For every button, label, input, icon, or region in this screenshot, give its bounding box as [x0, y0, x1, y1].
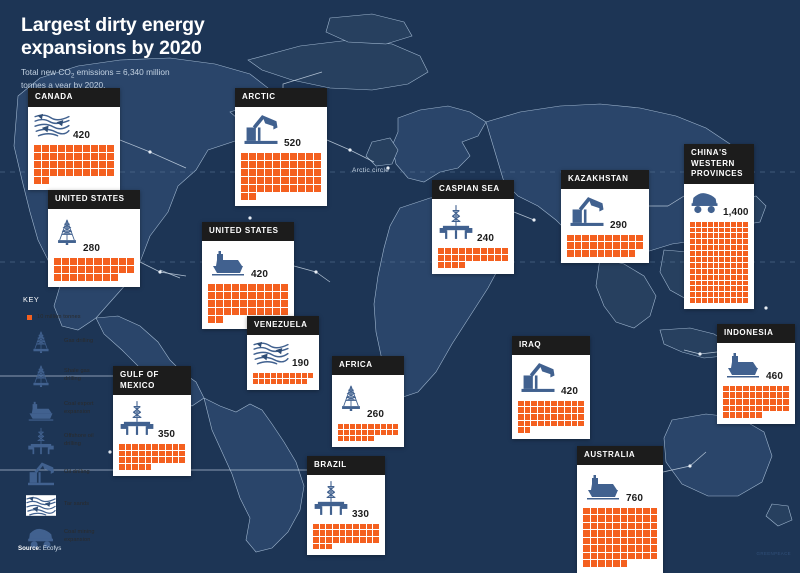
unit-dot [590, 242, 597, 249]
unit-dot [731, 263, 736, 268]
region-card-title: BRAZIL [307, 456, 385, 475]
unit-dot [146, 464, 152, 470]
unit-dot [770, 392, 776, 398]
region-card-body: 280 [48, 209, 140, 287]
unit-dot [253, 373, 258, 378]
unit-dot [302, 379, 307, 384]
gas-drilling-icon [338, 380, 364, 421]
unit-dot [257, 308, 264, 315]
unit-dot [690, 222, 695, 227]
unit-swatch-icon [27, 315, 32, 320]
region-card-africa[interactable]: AFRICA260 [332, 356, 404, 447]
region-card-caspian-sea[interactable]: CASPIAN SEA240 [432, 180, 514, 274]
unit-dot [74, 145, 81, 152]
region-card-value: 520 [284, 139, 301, 150]
region-card-value: 420 [251, 270, 268, 281]
unit-dot [731, 275, 736, 280]
unit-dot [119, 258, 126, 265]
unit-dot [119, 451, 125, 457]
unit-dot [750, 386, 756, 392]
unit-dot [338, 424, 343, 429]
unit-dot [583, 538, 590, 545]
unit-dot [651, 515, 658, 522]
unit-dot [320, 544, 326, 550]
unit-dot [257, 161, 264, 168]
unit-dot [606, 515, 613, 522]
unit-dot [696, 251, 701, 256]
unit-dot [346, 524, 352, 530]
unit-dot [107, 153, 114, 160]
unit-dot [438, 262, 444, 268]
unit-dot [628, 530, 635, 537]
unit-dot [249, 193, 256, 200]
icon-value-row: 420 [208, 246, 289, 281]
unit-dot [730, 406, 736, 412]
unit-dot [636, 545, 643, 552]
oil-pumpjack-icon [518, 360, 558, 398]
unit-dot [708, 233, 713, 238]
unit-dot [373, 537, 379, 543]
unit-dot [708, 281, 713, 286]
unit-dot [298, 169, 305, 176]
offshore-oil-platform-icon [119, 400, 155, 441]
unit-dot [777, 386, 783, 392]
unit-dot [777, 406, 783, 412]
unit-dot [466, 248, 472, 254]
unit-dot [606, 538, 613, 545]
unit-dot [296, 373, 301, 378]
unit-dot [70, 258, 77, 265]
unit-dot [545, 401, 551, 407]
unit-dot [333, 524, 339, 530]
region-card-iraq[interactable]: IRAQ420 [512, 336, 590, 439]
unit-dot [290, 169, 297, 176]
unit-dot [606, 545, 613, 552]
unit-dot [350, 424, 355, 429]
unit-dot [232, 292, 239, 299]
unit-dot [690, 245, 695, 250]
unit-dot [737, 228, 742, 233]
unit-dot [232, 300, 239, 307]
unit-dot [714, 233, 719, 238]
unit-dot [518, 421, 524, 427]
unit-dot [551, 414, 557, 420]
unit-dot [591, 508, 598, 515]
unit-dot [306, 185, 313, 192]
unit-dot [613, 553, 620, 560]
key-legend: KEY 10 million tonnes Gas drillingShale … [17, 292, 107, 562]
icon-value-row: 460 [723, 348, 790, 383]
region-card-united-states-coal[interactable]: UNITED STATES420 [202, 222, 294, 329]
region-card-title: GULF OF MEXICO [113, 366, 191, 395]
unit-dot [719, 251, 724, 256]
unit-dot [551, 401, 557, 407]
unit-dot [83, 145, 90, 152]
unit-dot [621, 530, 628, 537]
unit-dot [708, 245, 713, 250]
unit-dot [34, 169, 41, 176]
unit-dot [353, 524, 359, 530]
unit-dot [452, 248, 458, 254]
unit-dot [367, 537, 373, 543]
region-card-value: 350 [158, 430, 175, 441]
unit-dot [770, 386, 776, 392]
unit-dot [173, 457, 179, 463]
unit-dot [628, 523, 635, 530]
unit-dot [763, 386, 769, 392]
unit-dot [353, 537, 359, 543]
unit-dot [605, 242, 612, 249]
unit-dot [572, 407, 578, 413]
region-card-kazakhstan[interactable]: KAZAKHSTAN290 [561, 170, 649, 263]
unit-dot [545, 407, 551, 413]
unit-dot [696, 239, 701, 244]
unit-dot [696, 275, 701, 280]
unit-dot [690, 228, 695, 233]
unit-dot [538, 421, 544, 427]
unit-dot [702, 275, 707, 280]
key-item-label: Offshore oil drilling [64, 433, 101, 448]
unit-dot [66, 145, 73, 152]
unit-dot-grid [723, 386, 790, 419]
unit-dot [271, 379, 276, 384]
unit-dot [525, 427, 531, 433]
unit-dot [240, 292, 247, 299]
key-item-label: Tar sands [64, 501, 89, 509]
region-card-gulf-of-mexico[interactable]: GULF OF MEXICO350 [113, 366, 191, 476]
unit-dot [132, 451, 138, 457]
unit-dot [598, 560, 605, 567]
unit-dot [690, 286, 695, 291]
unit-dot [598, 235, 605, 242]
unit-dot [127, 266, 134, 273]
unit-dot [452, 255, 458, 261]
unit-dot [179, 457, 185, 463]
unit-dot [139, 457, 145, 463]
unit-dot [34, 161, 41, 168]
unit-dot [783, 399, 789, 405]
unit-dot [551, 421, 557, 427]
unit-dot [525, 401, 531, 407]
unit-dot [591, 530, 598, 537]
unit-dot [344, 424, 349, 429]
unit-dot [737, 257, 742, 262]
unit-dot [702, 239, 707, 244]
unit-dot [249, 161, 256, 168]
unit-dot [240, 308, 247, 315]
unit-dot [567, 242, 574, 249]
unit-dot [696, 228, 701, 233]
unit-dot [216, 308, 223, 315]
unit-dot [743, 222, 748, 227]
unit-dot [208, 300, 215, 307]
unit-dot [567, 250, 574, 257]
unit-dot [224, 284, 231, 291]
key-item-coal-export-ship: Coal export expansion [24, 395, 101, 423]
unit-dot [643, 508, 650, 515]
region-card-value: 420 [561, 387, 578, 398]
unit-dot [119, 444, 125, 450]
key-item-label: Shale gas drilling [64, 368, 101, 383]
icon-value-row: 350 [119, 400, 186, 441]
unit-dot [696, 286, 701, 291]
unit-dot [714, 263, 719, 268]
unit-dot [621, 538, 628, 545]
region-card-arctic[interactable]: ARCTIC520 [235, 88, 327, 206]
unit-dot [736, 412, 742, 418]
unit-dot-grid [119, 444, 186, 471]
region-card-australia[interactable]: AUSTRALIA760 [577, 446, 663, 573]
unit-dot [756, 399, 762, 405]
unit-dot [271, 373, 276, 378]
unit-dot-grid [583, 508, 658, 568]
unit-dot [273, 177, 280, 184]
unit-dot [725, 275, 730, 280]
unit-dot [628, 538, 635, 545]
unit-dot [70, 266, 77, 273]
unit-dot [783, 392, 789, 398]
unit-dot [248, 292, 255, 299]
region-card-title: VENEZUELA [247, 316, 319, 335]
unit-dot [360, 537, 366, 543]
region-card-body: 460 [717, 343, 795, 424]
shale-gas-drilling-icon [54, 214, 80, 255]
unit-dot [756, 406, 762, 412]
unit-dot [783, 406, 789, 412]
unit-dot [583, 530, 590, 537]
unit-dot [719, 233, 724, 238]
unit-dot [756, 412, 762, 418]
offshore-oil-platform-icon [24, 427, 58, 455]
unit-dot [731, 228, 736, 233]
unit-dot [290, 161, 297, 168]
unit-dot [613, 242, 620, 249]
unit-dot [725, 286, 730, 291]
unit-dot [152, 444, 158, 450]
unit-dot [290, 379, 295, 384]
unit-dot [525, 421, 531, 427]
unit-dot [58, 169, 65, 176]
unit-dot [696, 233, 701, 238]
unit-dot [613, 508, 620, 515]
unit-dot [224, 300, 231, 307]
unit-dot [629, 250, 636, 257]
unit-dot [66, 161, 73, 168]
unit-dot [42, 169, 49, 176]
unit-dot [103, 258, 110, 265]
unit-dot [725, 239, 730, 244]
region-card-value: 760 [626, 494, 643, 505]
region-card-body: 290 [561, 189, 649, 263]
unit-dot [281, 284, 288, 291]
key-unit-label: 10 million tonnes [37, 314, 81, 320]
unit-dot [708, 286, 713, 291]
unit-dot [591, 538, 598, 545]
unit-dot [730, 392, 736, 398]
unit-dot [326, 524, 332, 530]
unit-dot [690, 257, 695, 262]
unit-dot [598, 523, 605, 530]
region-card-united-states-shale[interactable]: UNITED STATES280 [48, 190, 140, 287]
unit-dot [50, 161, 57, 168]
unit-dot [750, 399, 756, 405]
unit-dot [353, 530, 359, 536]
unit-dot [283, 379, 288, 384]
unit-dot [737, 292, 742, 297]
unit-dot [273, 185, 280, 192]
unit-dot [381, 430, 386, 435]
unit-dot [702, 263, 707, 268]
unit-dot [714, 292, 719, 297]
unit-dot [651, 545, 658, 552]
unit-dot [613, 523, 620, 530]
region-card-body: 190 [247, 335, 319, 390]
region-card-body: 420 [512, 355, 590, 439]
unit-dot [714, 275, 719, 280]
key-item-oil-pumpjack: Oil drilling [24, 459, 101, 487]
source-label: Source: [18, 545, 41, 552]
unit-dot [70, 274, 77, 281]
unit-dot [590, 235, 597, 242]
unit-dot [737, 233, 742, 238]
unit-dot [241, 185, 248, 192]
unit-dot [636, 530, 643, 537]
region-card-canada[interactable]: CANADA420 [28, 88, 120, 190]
unit-dot [737, 286, 742, 291]
unit-dot-grid [338, 424, 399, 442]
region-card-brazil[interactable]: BRAZIL330 [307, 456, 385, 555]
unit-dot [628, 553, 635, 560]
unit-dot [241, 161, 248, 168]
unit-dot [725, 222, 730, 227]
unit-dot [306, 169, 313, 176]
unit-dot [248, 300, 255, 307]
unit-dot [86, 266, 93, 273]
unit-dot [731, 286, 736, 291]
unit-dot [731, 222, 736, 227]
unit-dot [525, 414, 531, 420]
unit-dot [702, 228, 707, 233]
unit-dot [241, 153, 248, 160]
unit-dot [725, 228, 730, 233]
unit-dot [290, 177, 297, 184]
unit-dot [393, 424, 398, 429]
unit-dot [696, 269, 701, 274]
unit-dot [368, 424, 373, 429]
unit-dot [166, 451, 172, 457]
unit-dot [731, 245, 736, 250]
infographic-canvas: Arctic circle Largest dirty energy expan… [0, 0, 800, 568]
icon-value-row: 280 [54, 214, 135, 255]
unit-dot [78, 258, 85, 265]
unit-dot [583, 515, 590, 522]
unit-dot [598, 250, 605, 257]
unit-dot-grid [54, 258, 135, 282]
unit-dot [216, 316, 223, 323]
unit-dot [621, 523, 628, 530]
unit-dot [598, 553, 605, 560]
region-card-venezuela[interactable]: VENEZUELA190 [247, 316, 319, 390]
unit-dot [78, 274, 85, 281]
unit-dot [367, 524, 373, 530]
key-item-offshore-oil-platform: Offshore oil drilling [24, 427, 101, 455]
unit-dot [159, 451, 165, 457]
coal-export-ship-icon [208, 246, 248, 281]
unit-dot [119, 457, 125, 463]
unit-dot [719, 263, 724, 268]
unit-dot [714, 286, 719, 291]
gas-drilling-icon [24, 327, 58, 357]
region-card-value: 240 [477, 234, 494, 245]
unit-dot [103, 274, 110, 281]
unit-dot [338, 430, 343, 435]
unit-dot [320, 524, 326, 530]
unit-dot [572, 421, 578, 427]
unit-dot [107, 169, 114, 176]
unit-dot [152, 457, 158, 463]
unit-dot [119, 464, 125, 470]
unit-dot [531, 407, 537, 413]
unit-dot [750, 412, 756, 418]
unit-dot [350, 436, 355, 441]
unit-dot [139, 464, 145, 470]
region-card-title: CHINA'S WESTERN PROVINCES [684, 144, 754, 184]
unit-dot [636, 523, 643, 530]
unit-dot [743, 392, 749, 398]
unit-dot [481, 255, 487, 261]
unit-dot [743, 257, 748, 262]
unit-dot [731, 251, 736, 256]
unit-dot [107, 145, 114, 152]
unit-dot [636, 553, 643, 560]
unit-dot [702, 245, 707, 250]
unit-dot [598, 530, 605, 537]
unit-dot [621, 250, 628, 257]
unit-dot [696, 222, 701, 227]
unit-dot [538, 407, 544, 413]
unit-dot [340, 537, 346, 543]
unit-dot [725, 269, 730, 274]
unit-dot [340, 524, 346, 530]
unit-dot [719, 286, 724, 291]
unit-dot [743, 233, 748, 238]
unit-dot [714, 281, 719, 286]
region-card-chinas-western-provinces[interactable]: CHINA'S WESTERN PROVINCES1,400 [684, 144, 754, 309]
unit-dot [763, 392, 769, 398]
unit-dot [736, 386, 742, 392]
icon-value-row: 1,400 [690, 189, 749, 219]
unit-dot [445, 248, 451, 254]
unit-dot [314, 185, 321, 192]
unit-dot [714, 269, 719, 274]
unit-dot [216, 284, 223, 291]
unit-dot [736, 399, 742, 405]
unit-dot [281, 308, 288, 315]
region-card-value: 290 [610, 221, 627, 232]
unit-dot [306, 177, 313, 184]
unit-dot [702, 298, 707, 303]
unit-dot [621, 508, 628, 515]
region-card-indonesia[interactable]: INDONESIA460 [717, 324, 795, 424]
unit-dot [283, 373, 288, 378]
unit-dot [298, 161, 305, 168]
unit-dot [723, 399, 729, 405]
oil-pumpjack-icon [24, 460, 58, 486]
unit-dot [621, 235, 628, 242]
unit-dot [373, 524, 379, 530]
unit-dot [42, 161, 49, 168]
watermark: GREENPEACE [757, 551, 792, 556]
